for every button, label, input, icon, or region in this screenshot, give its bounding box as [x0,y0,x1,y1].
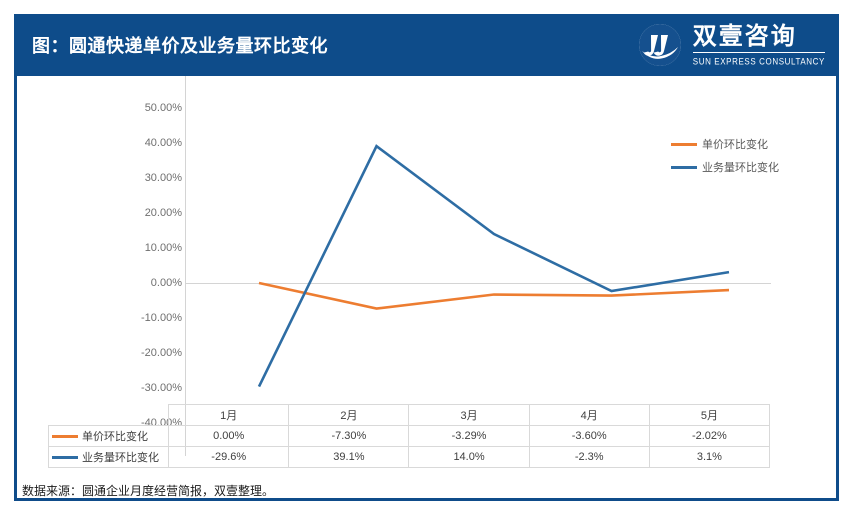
legend-label-unit-price: 单价环比变化 [702,136,768,152]
legend-swatch-unit-price [671,143,697,146]
chart-legend: 单价环比变化 业务量环比变化 [671,136,779,175]
brand-lockup: 双壹咨询 SUN EXPRESS CONSULTANCY [637,22,825,68]
y-tick-10: 10.00% [112,242,182,254]
chart-area: 50.00% 40.00% 30.00% 20.00% 10.00% 0.00%… [17,76,836,456]
y-tick-0: 0.00% [112,277,182,289]
y-tick-40: 40.00% [112,137,182,149]
y-tick-n10: -10.00% [112,312,182,324]
source-note: 数据来源：圆通企业月度经营简报，双壹整理。 [22,482,274,499]
y-axis-tick-labels: 50.00% 40.00% 30.00% 20.00% 10.00% 0.00%… [112,76,182,456]
table-col-header-5: 5月 [649,405,769,426]
cell-volume-4: -2.3% [529,447,649,468]
plot-region: 单价环比变化 业务量环比变化 [185,76,771,456]
legend-item-unit-price[interactable]: 单价环比变化 [671,136,779,152]
brand-text: 双壹咨询 SUN EXPRESS CONSULTANCY [693,24,825,65]
sun-express-circle-logo-icon [637,22,683,68]
table-corner-cell [49,405,169,426]
table-col-header-1: 1月 [169,405,289,426]
table-col-header-4: 4月 [529,405,649,426]
y-tick-30: 30.00% [112,172,182,184]
page-title: 图：圆通快递单价及业务量环比变化 [32,32,328,58]
screenshot-root: 图：圆通快递单价及业务量环比变化 双壹咨询 SUN EXPRESS CONSUL… [0,0,853,520]
table-row-header-unit-price: 单价环比变化 [49,426,169,447]
series-line-volume [259,146,729,386]
cell-volume-5: 3.1% [649,447,769,468]
table-swatch-unit-price [52,435,78,438]
table-col-header-3: 3月 [409,405,529,426]
chart-data-table: 1月 2月 3月 4月 5月 单价环比变化 0.00% -7.30% -3.29… [48,404,770,468]
series-line-unit-price [259,283,729,309]
cell-unit-price-4: -3.60% [529,426,649,447]
y-tick-50: 50.00% [112,102,182,114]
table-swatch-volume [52,456,78,459]
legend-label-volume: 业务量环比变化 [702,159,779,175]
cell-unit-price-5: -2.02% [649,426,769,447]
legend-item-volume[interactable]: 业务量环比变化 [671,159,779,175]
y-tick-n20: -20.00% [112,347,182,359]
cell-unit-price-1: 0.00% [169,426,289,447]
figure-header: 图：圆通快递单价及业务量环比变化 双壹咨询 SUN EXPRESS CONSUL… [14,14,839,76]
cell-unit-price-3: -3.29% [409,426,529,447]
brand-name-cn: 双壹咨询 [693,24,825,52]
cell-unit-price-2: -7.30% [289,426,409,447]
table-col-header-2: 2月 [289,405,409,426]
table-row-header-volume: 业务量环比变化 [49,447,169,468]
cell-volume-2: 39.1% [289,447,409,468]
cell-volume-1: -29.6% [169,447,289,468]
y-tick-n30: -30.00% [112,382,182,394]
table-header-row: 1月 2月 3月 4月 5月 [49,405,770,426]
table-row-label-volume: 业务量环比变化 [82,449,159,465]
table-row: 业务量环比变化 -29.6% 39.1% 14.0% -2.3% 3.1% [49,447,770,468]
brand-name-en: SUN EXPRESS CONSULTANCY [693,53,825,68]
cell-volume-3: 14.0% [409,447,529,468]
series-lines [185,76,771,456]
table-row: 单价环比变化 0.00% -7.30% -3.29% -3.60% -2.02% [49,426,770,447]
y-tick-20: 20.00% [112,207,182,219]
legend-swatch-volume [671,166,697,169]
table-row-label-unit-price: 单价环比变化 [82,428,148,444]
